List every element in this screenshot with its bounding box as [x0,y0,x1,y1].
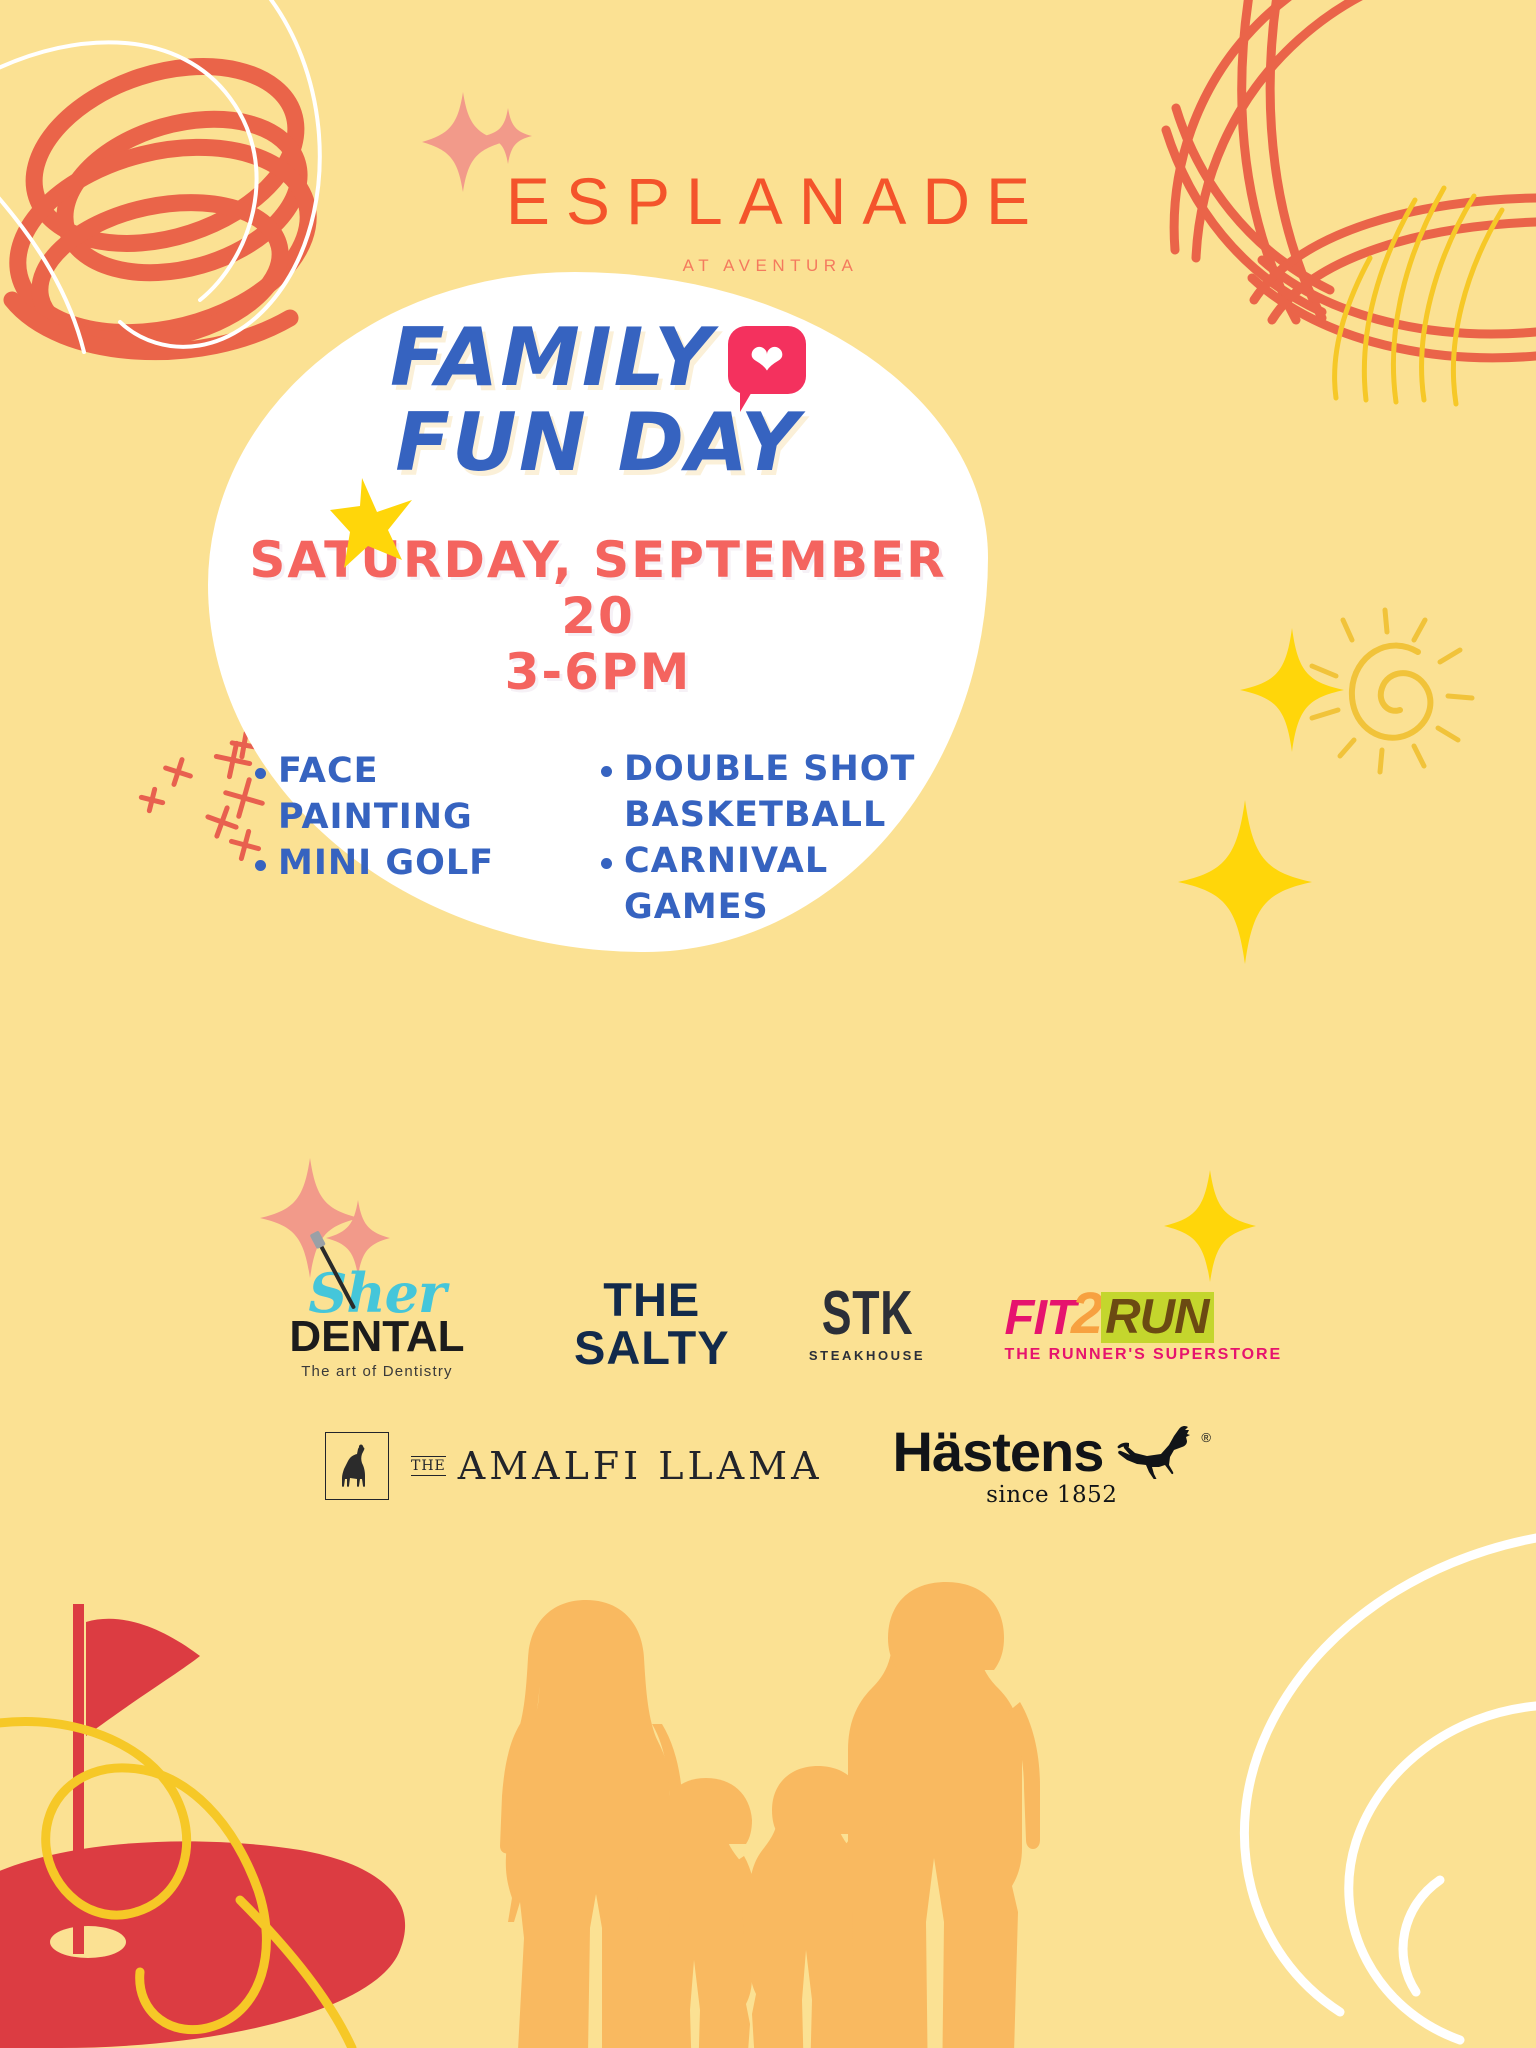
silhouette-mother-arm-right [652,1724,688,1850]
sponsor-logo-fit2run: FIT 2 RUN THE RUNNER'S SUPERSTORE [1005,1285,1282,1364]
hastens-registered-mark: ® [1201,1430,1211,1445]
activity-label: MINI GOLF [278,840,494,886]
sparkle-star-icon [1240,628,1344,752]
headline-line-1-row: FAMILY ❤ [208,316,988,401]
hastens-wordmark-row: Hästens ® [893,1424,1211,1480]
sponsor-logo-sher-dental: Sher DENTAL The art of Dentistry [254,1268,500,1380]
yellow-loop-doodle [0,1722,352,2048]
sparkle-star-icon [1164,1170,1256,1282]
activity-item: FACE PAINTING [255,748,575,840]
activity-label: CARNIVAL GAMES [624,838,941,930]
activity-item: MINI GOLF [255,840,575,886]
heart-chat-bubble-icon: ❤ [728,326,806,394]
bullet-dot-icon [601,766,612,777]
salty-line-1: THE [574,1276,730,1324]
fit2run-run: RUN [1101,1292,1214,1343]
sher-dental-wordmark: DENTAL [254,1315,500,1359]
heart-glyph: ❤ [728,326,806,394]
stk-wordmark: STK [821,1285,912,1344]
amalfi-wordmark: THE AMALFI LLAMA [411,1444,823,1488]
golf-hole [50,1926,126,1958]
brand-name: ESPLANADE [0,168,1536,234]
sponsor-row-2: THE AMALFI LLAMA Hästens ® since 1852 [0,1424,1536,1508]
silhouette-father-hand-holding [846,1810,890,1854]
family-silhouette [500,1582,1040,2048]
activity-label: FACE PAINTING [278,748,575,840]
silhouette-child-2-arm-right [854,1830,912,1862]
activities-right-column: DOUBLE SHOT BASKETBALL CARNIVAL GAMES [601,746,941,931]
white-blob-outline [1244,1538,1536,2040]
silhouette-child-2-hair [772,1766,864,1834]
sponsor-logo-stk: STK STEAKHOUSE [804,1285,931,1363]
sponsor-logos: Sher DENTAL The art of Dentistry THE SAL… [0,1268,1536,1508]
sher-tagline: The art of Dentistry [254,1363,500,1380]
brand-header: ESPLANADE AT AVENTURA [0,168,1536,276]
activity-item: DOUBLE SHOT BASKETBALL [601,746,941,838]
sun-doodle [1312,610,1472,772]
bullet-dot-icon [601,858,612,869]
llama-icon [337,1443,377,1489]
fit2run-tagline: THE RUNNER'S SUPERSTORE [1005,1346,1282,1364]
silhouette-mother [506,1608,673,2048]
event-time: 3-6PM [208,644,988,700]
fit2run-two: 2 [1071,1285,1103,1343]
sponsor-logo-amalfi-llama: THE AMALFI LLAMA [325,1432,823,1500]
event-datetime: SATURDAY, SEPTEMBER 20 3-6PM [208,532,988,700]
activity-label: DOUBLE SHOT BASKETBALL [624,746,941,838]
running-horse-icon [1109,1425,1195,1479]
sponsor-row-1: Sher DENTAL The art of Dentistry THE SAL… [0,1268,1536,1380]
silhouette-mother-arm-left [500,1724,532,1854]
activity-item: CARNIVAL GAMES [601,838,941,930]
silhouette-father-arm-left [852,1702,884,1849]
silhouette-father-arm-right [1008,1702,1040,1849]
salty-line-2: SALTY [574,1324,730,1372]
sparkle-star-icon [260,1158,360,1278]
silhouette-child-1-arm-right [732,1856,756,1942]
event-date: SATURDAY, SEPTEMBER 20 [208,532,988,644]
headline-line-1: FAMILY [390,316,714,401]
poster-canvas: ESPLANADE AT AVENTURA FAMILY ❤ FUN DAY S… [0,0,1536,2048]
golf-flag-pole [73,1604,84,1954]
fit2run-wordmark: FIT 2 RUN [1005,1285,1282,1343]
llama-icon-frame [325,1432,389,1500]
silhouette-child-1-arm-left [656,1856,680,1942]
card-content: FAMILY ❤ FUN DAY SATURDAY, SEPTEMBER 20 … [208,272,988,952]
amalfi-the: THE [411,1456,446,1476]
silhouette-mother-hair [514,1600,658,1746]
sparkle-star-icon [484,108,532,164]
sponsor-logo-hastens: Hästens ® since 1852 [893,1424,1211,1508]
headline-line-2: FUN DAY [208,401,988,486]
fit2run-fit: FIT [1005,1294,1075,1343]
silhouette-father [848,1594,1022,2048]
sparkle-star-icon [1178,800,1312,964]
bullet-dot-icon [255,860,266,871]
silhouette-child-1-hair [662,1778,752,1844]
hastens-since: since 1852 [893,1482,1211,1508]
stk-subtitle: STEAKHOUSE [804,1348,931,1363]
amalfi-name: AMALFI LLAMA [458,1444,823,1488]
golf-flag [86,1619,200,1736]
content-card: FAMILY ❤ FUN DAY SATURDAY, SEPTEMBER 20 … [208,272,988,952]
hastens-name: Hästens [893,1424,1104,1480]
activities-left-column: FACE PAINTING MINI GOLF [255,746,575,931]
activities-list: FACE PAINTING MINI GOLF DOUBLE SHOT BASK… [208,746,988,931]
bullet-dot-icon [255,768,266,779]
brand-subtitle: AT AVENTURA [0,256,1536,276]
silhouette-father-hair [888,1582,1004,1670]
silhouette-child-1 [638,1790,752,2048]
sponsor-logo-the-salty: THE SALTY [574,1276,730,1372]
golf-green [0,1841,405,2048]
silhouette-child-2 [750,1780,864,2048]
